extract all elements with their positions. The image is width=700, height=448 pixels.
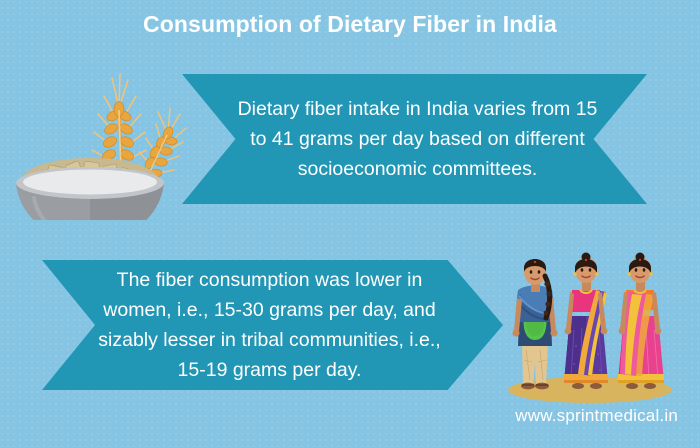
website-url: www.sprintmedical.in (515, 406, 678, 426)
woman-center-purple-saree (564, 253, 608, 390)
fact-banner-two-text: The fiber consumption was lower in women… (92, 265, 447, 385)
woman-right-pink-saree (618, 253, 664, 390)
three-indian-women-illustration (486, 250, 694, 405)
bowl (16, 167, 164, 220)
infographic-canvas: Consumption of Dietary Fiber in India (0, 0, 700, 448)
fact-banner-two: The fiber consumption was lower in women… (42, 260, 503, 390)
fact-banner-one-text: Dietary fiber intake in India varies fro… (234, 94, 601, 184)
fact-banner-one: Dietary fiber intake in India varies fro… (182, 74, 647, 204)
page-title: Consumption of Dietary Fiber in India (0, 11, 700, 38)
woman-left-blue-shawl (512, 259, 557, 389)
bowl-of-cereal-illustration (8, 52, 203, 220)
